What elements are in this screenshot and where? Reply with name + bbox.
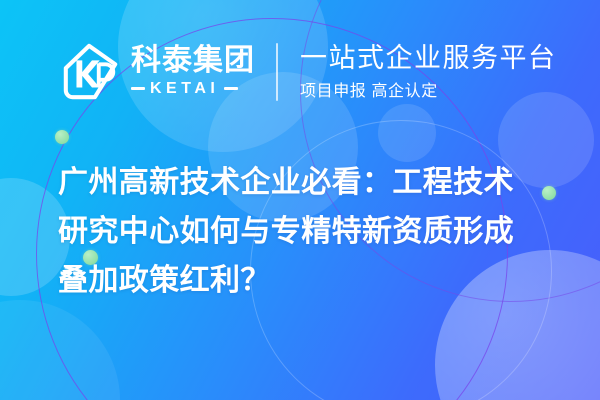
kp-monogram-icon [60,41,122,103]
decorative-circle-right-small [378,104,436,162]
title-line-2: 研究中心如何与专精特新资质形成 [58,207,558,256]
slogan-sub: 项目申报 高企认定 [300,77,557,101]
wordmark-rule-right [224,87,238,90]
brand-wordmark: 科泰集团 KETAI [131,46,255,98]
brand-name-en-row: KETAI [131,80,255,98]
wordmark-rule-left [131,87,145,90]
title-line-1: 广州高新技术企业必看：工程技术 [58,158,558,207]
header-divider [276,43,278,101]
page-title: 广州高新技术企业必看：工程技术 研究中心如何与专精特新资质形成 叠加政策红利？ [58,158,558,305]
brand-name-en: KETAI [150,80,219,98]
slogan-block: 一站式企业服务平台 项目申报 高企认定 [300,43,557,101]
brand-name-cn: 科泰集团 [131,46,255,77]
slogan-main: 一站式企业服务平台 [300,43,557,73]
title-line-3: 叠加政策红利？ [58,256,558,305]
brand-logo: 科泰集团 KETAI [60,41,255,103]
promo-banner: 科泰集团 KETAI 一站式企业服务平台 项目申报 高企认定 广州高新技术企业必… [0,0,600,400]
decorative-dot-green-left [55,130,69,144]
decorative-circle-bottom-left [0,300,120,400]
banner-header: 科泰集团 KETAI 一站式企业服务平台 项目申报 高企认定 [0,32,600,112]
